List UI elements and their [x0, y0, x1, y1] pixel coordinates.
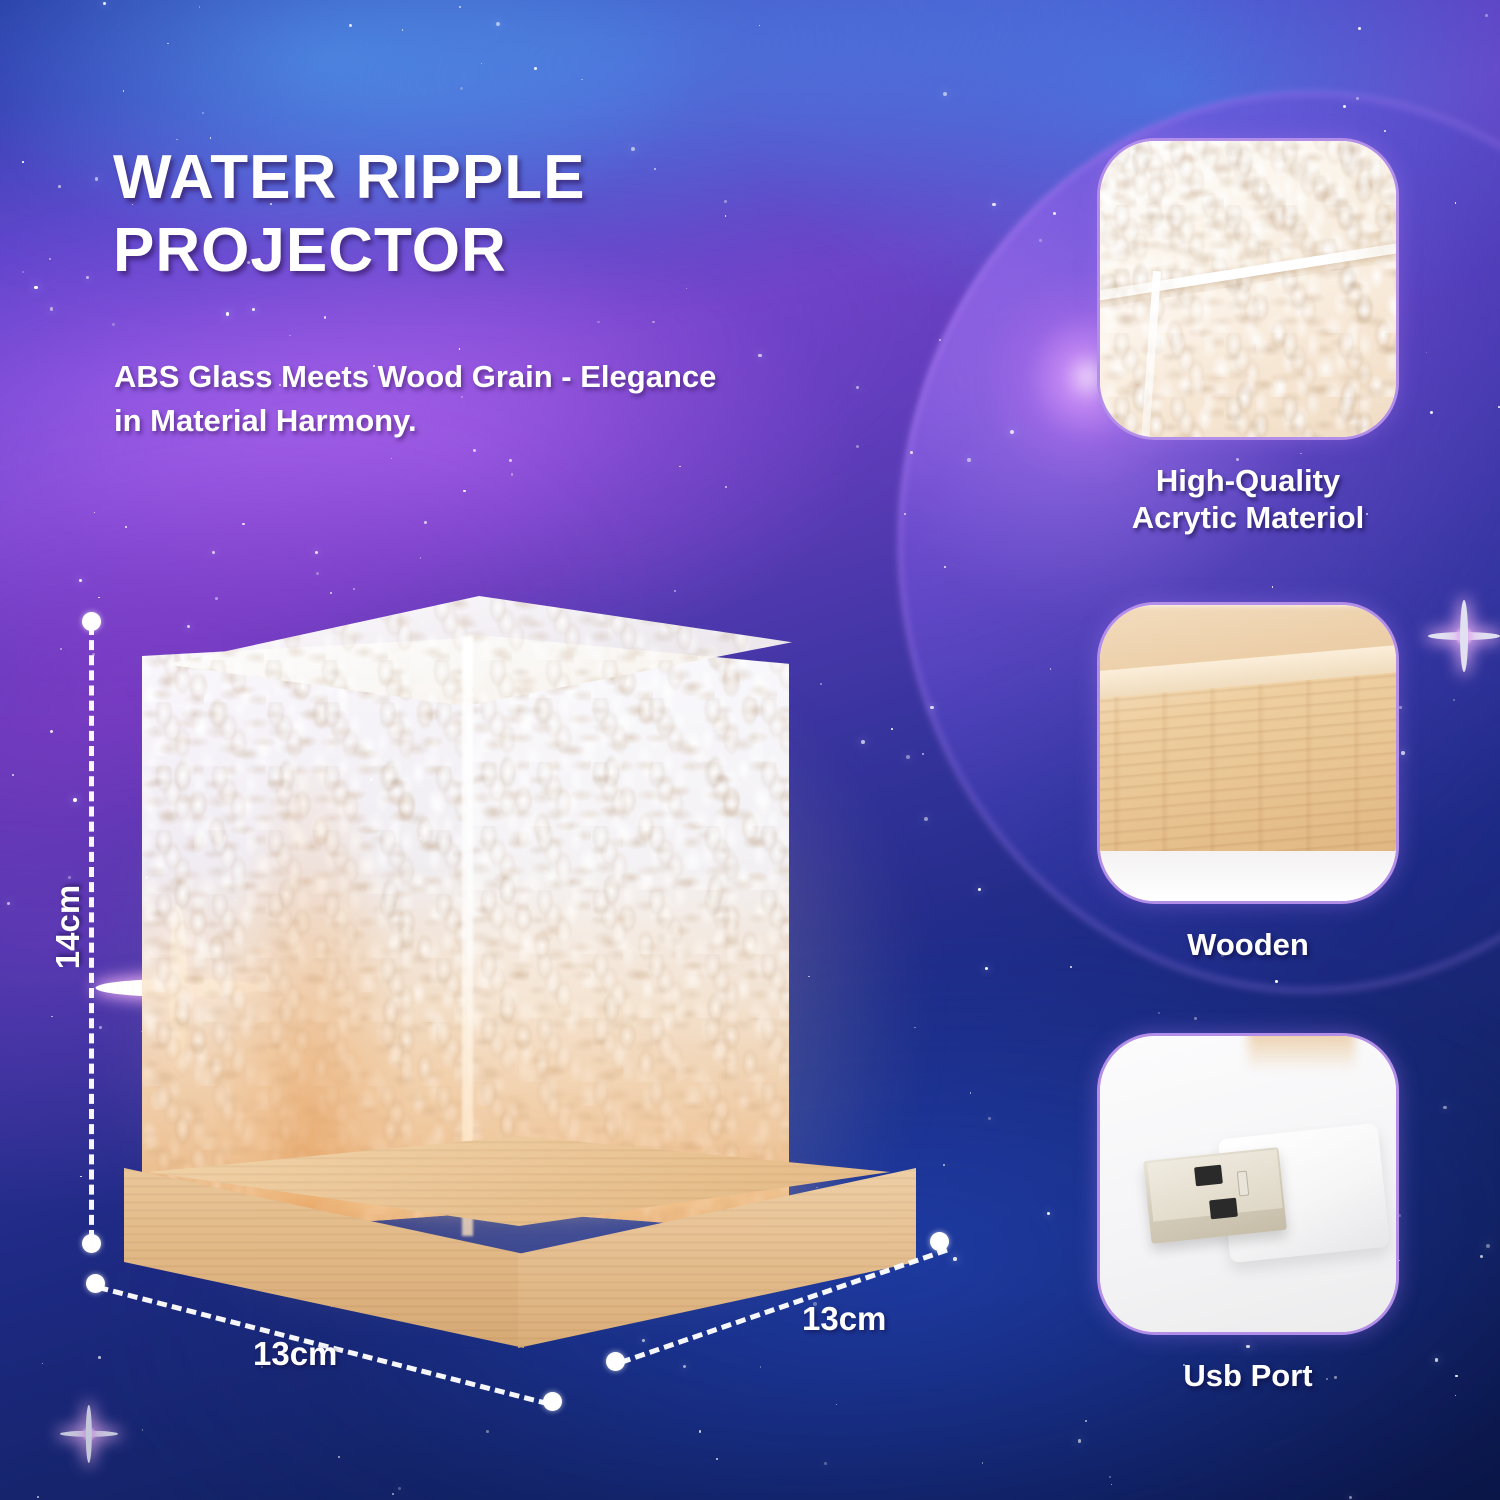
- feature-acrylic-image: [1097, 138, 1399, 440]
- star-dot: [978, 888, 981, 891]
- star-dot: [1047, 1212, 1051, 1216]
- star-dot: [324, 316, 327, 319]
- star-dot: [22, 161, 24, 163]
- star-dot: [699, 1430, 702, 1433]
- star-dot: [99, 1026, 103, 1030]
- star-dot: [176, 139, 178, 141]
- star-dot: [50, 307, 54, 311]
- star-dot: [992, 203, 995, 206]
- star-dot: [289, 335, 290, 336]
- star-dot: [970, 1092, 972, 1094]
- star-dot: [1358, 27, 1361, 30]
- feature-wooden-image: [1097, 602, 1399, 904]
- wood-white-surface: [1100, 851, 1396, 901]
- star-dot: [349, 24, 352, 27]
- dim-endpoint-width-right-outer: [930, 1232, 949, 1251]
- star-dot: [1070, 966, 1072, 968]
- star-dot: [12, 774, 14, 776]
- star-dot: [95, 177, 99, 181]
- usb-contact-slot-upper: [1194, 1165, 1222, 1187]
- star-dot: [1085, 1420, 1088, 1423]
- star-dot: [73, 798, 77, 802]
- star-dot: [581, 79, 583, 81]
- star-dot: [1109, 1476, 1111, 1478]
- feature-acrylic-label: High-Quality Acrytic Materiol: [1097, 462, 1399, 536]
- star-dot: [982, 1462, 983, 1463]
- star-dot: [509, 459, 511, 461]
- star-dot: [642, 1339, 645, 1342]
- star-dot: [420, 557, 421, 558]
- star-dot: [760, 1366, 761, 1367]
- star-dot: [316, 572, 319, 575]
- dim-line-height: [89, 625, 94, 1240]
- product-marketing-poster: WATER RIPPLE PROJECTOR ABS Glass Meets W…: [0, 0, 1500, 1500]
- star-dot: [1480, 1255, 1483, 1258]
- star-dot: [652, 321, 655, 324]
- dim-endpoint-width-left-inner: [543, 1392, 562, 1411]
- page-subtitle: ABS Glass Meets Wood Grain - Elegance in…: [114, 355, 874, 444]
- feature-wooden-label: Wooden: [1097, 926, 1399, 963]
- star-dot: [98, 597, 100, 599]
- feature-wooden: Wooden: [1097, 602, 1399, 963]
- star-dot: [716, 1458, 718, 1460]
- star-dot: [679, 466, 681, 468]
- star-dot: [943, 92, 947, 96]
- star-dot: [725, 486, 728, 489]
- star-dot: [212, 551, 215, 554]
- dim-label-width-right: 13cm: [802, 1300, 886, 1338]
- star-dot: [459, 348, 461, 350]
- star-dot: [392, 1493, 395, 1496]
- star-dot: [1399, 1260, 1400, 1261]
- feature-usb-label: Usb Port: [1097, 1357, 1399, 1394]
- dim-endpoint-height-bottom: [82, 1234, 101, 1253]
- page-title-line-1: WATER RIPPLE: [113, 142, 873, 215]
- star-dot: [202, 112, 204, 114]
- star-dot: [988, 1117, 991, 1120]
- star-dot: [34, 286, 38, 290]
- star-dot: [1194, 1017, 1197, 1020]
- star-dot: [511, 473, 513, 475]
- star-dot: [402, 29, 404, 31]
- star-dot: [1078, 1439, 1082, 1443]
- star-dot: [943, 1164, 945, 1166]
- star-dot: [58, 185, 61, 188]
- dim-label-width-left: 13cm: [253, 1335, 337, 1373]
- star-dot: [49, 258, 51, 260]
- star-dot: [42, 1363, 44, 1365]
- star-dot: [22, 271, 24, 273]
- star-dot: [252, 308, 255, 311]
- star-dot: [123, 90, 125, 92]
- page-subtitle-line-2: in Material Harmony.: [114, 399, 874, 443]
- feature-acrylic: High-Quality Acrytic Materiol: [1097, 138, 1399, 536]
- star-dot: [142, 1429, 144, 1431]
- wooden-macro-photo: [1100, 605, 1396, 901]
- star-dot: [1111, 1484, 1112, 1485]
- product-image-water-ripple-lamp: [118, 588, 938, 1328]
- feature-usb: Usb Port: [1097, 1033, 1399, 1394]
- star-dot: [338, 1456, 341, 1459]
- star-dot: [836, 1404, 837, 1405]
- star-dot: [80, 1176, 81, 1177]
- star-dot: [985, 967, 988, 970]
- star-dot: [98, 1356, 101, 1359]
- star-dot: [79, 579, 82, 582]
- star-dot: [86, 276, 89, 279]
- star-dot: [242, 523, 245, 526]
- star-dot: [210, 137, 212, 139]
- star-dot: [1158, 1012, 1160, 1014]
- star-dot: [112, 323, 115, 326]
- star-dot: [473, 449, 476, 452]
- star-dot: [534, 67, 537, 70]
- star-dot: [167, 43, 169, 45]
- star-dot: [103, 2, 106, 5]
- star-dot: [94, 512, 95, 513]
- usb-macro-photo: [1100, 1036, 1396, 1332]
- star-dot: [759, 25, 760, 26]
- dim-label-height: 14cm: [49, 872, 87, 982]
- star-dot: [953, 1257, 957, 1261]
- star-dot: [496, 22, 500, 26]
- star-dot: [463, 490, 466, 493]
- star-dot: [597, 321, 600, 324]
- star-dot: [1455, 1395, 1456, 1396]
- star-dot: [424, 521, 427, 524]
- page-subtitle-line-1: ABS Glass Meets Wood Grain - Elegance: [114, 355, 874, 399]
- star-dot: [459, 6, 461, 8]
- star-dot: [686, 288, 687, 289]
- star-dot: [460, 87, 463, 90]
- star-dot: [856, 445, 859, 448]
- star-dot: [1443, 1106, 1446, 1109]
- page-title-line-2: PROJECTOR: [113, 215, 873, 288]
- star-dot: [1485, 14, 1488, 17]
- sparkle-star-bottom-left: [60, 1405, 118, 1463]
- page-title: WATER RIPPLE PROJECTOR: [113, 142, 873, 287]
- usb-background-wood-hint: [1248, 1033, 1355, 1072]
- star-dot: [51, 1016, 52, 1017]
- star-dot: [199, 6, 201, 8]
- star-dot: [60, 648, 62, 650]
- star-dot: [391, 458, 392, 459]
- star-dot: [1435, 1358, 1439, 1362]
- star-dot: [1455, 1375, 1457, 1377]
- star-dot: [486, 1430, 489, 1433]
- star-dot: [683, 1365, 686, 1368]
- usb-contact-slot-lower: [1209, 1197, 1237, 1219]
- star-dot: [824, 1462, 827, 1465]
- star-dot: [226, 312, 229, 315]
- star-dot: [481, 63, 482, 64]
- star-dot: [1349, 1496, 1352, 1499]
- feature-usb-image: [1097, 1033, 1399, 1335]
- star-dot: [125, 526, 127, 528]
- star-dot: [1486, 1244, 1490, 1248]
- star-dot: [50, 730, 53, 733]
- star-dot: [7, 902, 10, 905]
- star-dot: [398, 1487, 401, 1490]
- acrylic-macro-photo: [1100, 141, 1396, 437]
- star-dot: [315, 551, 318, 554]
- star-dot: [37, 1496, 39, 1498]
